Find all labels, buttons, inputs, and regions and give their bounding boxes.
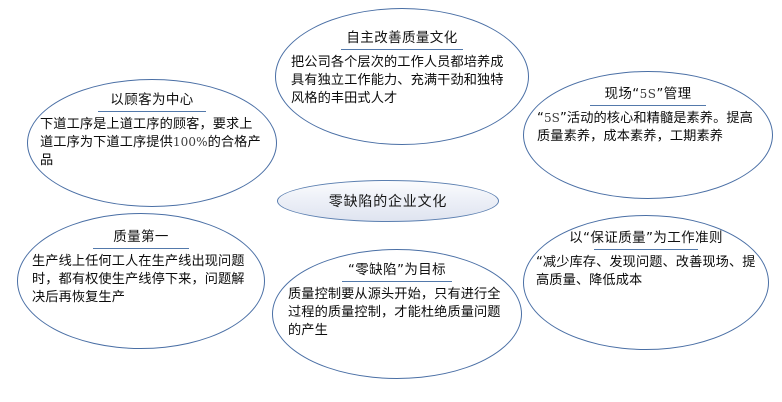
node-center-zero-defect-culture-label: 零缺陷的企业文化 bbox=[329, 191, 447, 211]
node-customer-focus[interactable]: 以顾客为中心 下道工序是上道工序的顾客，要求上道工序为下道工序提供100%的合格… bbox=[27, 79, 277, 207]
node-five-s-management[interactable]: 现场“5S”管理 “5S”活动的核心和精髓是素养。提高质量素养，成本素养，工期素… bbox=[523, 71, 773, 199]
node-quality-first-title: 质量第一 bbox=[113, 229, 169, 246]
node-self-improvement-culture-body: 把公司各个层次的工作人员都培养成具有独立工作能力、充满干劲和独特风格的丰田式人才 bbox=[291, 54, 513, 109]
title-divider bbox=[590, 105, 706, 106]
title-divider bbox=[98, 111, 206, 112]
node-zero-defect-goal-content: “零缺陷”为目标 质量控制要从源头开始，只有进行全过程的质量控制，才能杜绝质量问… bbox=[273, 262, 521, 341]
title-divider bbox=[594, 249, 698, 250]
node-customer-focus-body: 下道工序是上道工序的顾客，要求上道工序为下道工序提供100%的合格产品 bbox=[40, 116, 264, 171]
accent-text: 5S bbox=[640, 87, 657, 101]
node-zero-defect-goal[interactable]: “零缺陷”为目标 质量控制要从源头开始，只有进行全过程的质量控制，才能杜绝质量问… bbox=[272, 249, 522, 379]
node-customer-focus-content: 以顾客为中心 下道工序是上道工序的顾客，要求上道工序为下道工序提供100%的合格… bbox=[28, 92, 276, 171]
node-guarantee-quality-principle-title: 以“保证质量”为工作准则 bbox=[569, 230, 723, 247]
node-guarantee-quality-principle-content: 以“保证质量”为工作准则 “减少库存、发现问题、改善现场、提高质量、降低成本 bbox=[524, 230, 768, 290]
node-quality-first-body: 生产线上任何工人在生产线出现问题时，都有权使生产线停下来，问题解决后再恢复生产 bbox=[32, 253, 250, 308]
node-five-s-management-body: “5S”活动的核心和精髓是素养。提高质量素养，成本素养，工期素养 bbox=[537, 110, 759, 146]
node-five-s-management-title: 现场“5S”管理 bbox=[604, 86, 691, 103]
diagram-canvas: 以顾客为中心 下道工序是上道工序的顾客，要求上道工序为下道工序提供100%的合格… bbox=[0, 0, 782, 402]
node-guarantee-quality-principle-body: “减少库存、发现问题、改善现场、提高质量、降低成本 bbox=[536, 254, 756, 290]
node-self-improvement-culture-content: 自主改善质量文化 把公司各个层次的工作人员都培养成具有独立工作能力、充满干劲和独… bbox=[276, 30, 528, 109]
node-center-zero-defect-culture[interactable]: 零缺陷的企业文化 bbox=[277, 180, 499, 222]
node-self-improvement-culture-title: 自主改善质量文化 bbox=[346, 30, 457, 47]
node-quality-first[interactable]: 质量第一 生产线上任何工人在生产线出现问题时，都有权使生产线停下来，问题解决后再… bbox=[17, 213, 265, 349]
node-guarantee-quality-principle[interactable]: 以“保证质量”为工作准则 “减少库存、发现问题、改善现场、提高质量、降低成本 bbox=[523, 215, 769, 350]
accent-text: 5S bbox=[544, 111, 560, 125]
node-customer-focus-title: 以顾客为中心 bbox=[110, 92, 193, 109]
accent-text: 100% bbox=[173, 135, 208, 149]
node-quality-first-content: 质量第一 生产线上任何工人在生产线出现问题时，都有权使生产线停下来，问题解决后再… bbox=[18, 229, 264, 308]
node-zero-defect-goal-title: “零缺陷”为目标 bbox=[348, 262, 446, 279]
node-zero-defect-goal-body: 质量控制要从源头开始，只有进行全过程的质量控制，才能杜绝质量问题的产生 bbox=[288, 286, 506, 341]
title-divider bbox=[93, 248, 189, 249]
title-divider bbox=[341, 49, 463, 50]
node-self-improvement-culture[interactable]: 自主改善质量文化 把公司各个层次的工作人员都培养成具有独立工作能力、充满干劲和独… bbox=[275, 8, 529, 145]
title-divider bbox=[342, 281, 452, 282]
node-five-s-management-content: 现场“5S”管理 “5S”活动的核心和精髓是素养。提高质量素养，成本素养，工期素… bbox=[524, 86, 772, 146]
